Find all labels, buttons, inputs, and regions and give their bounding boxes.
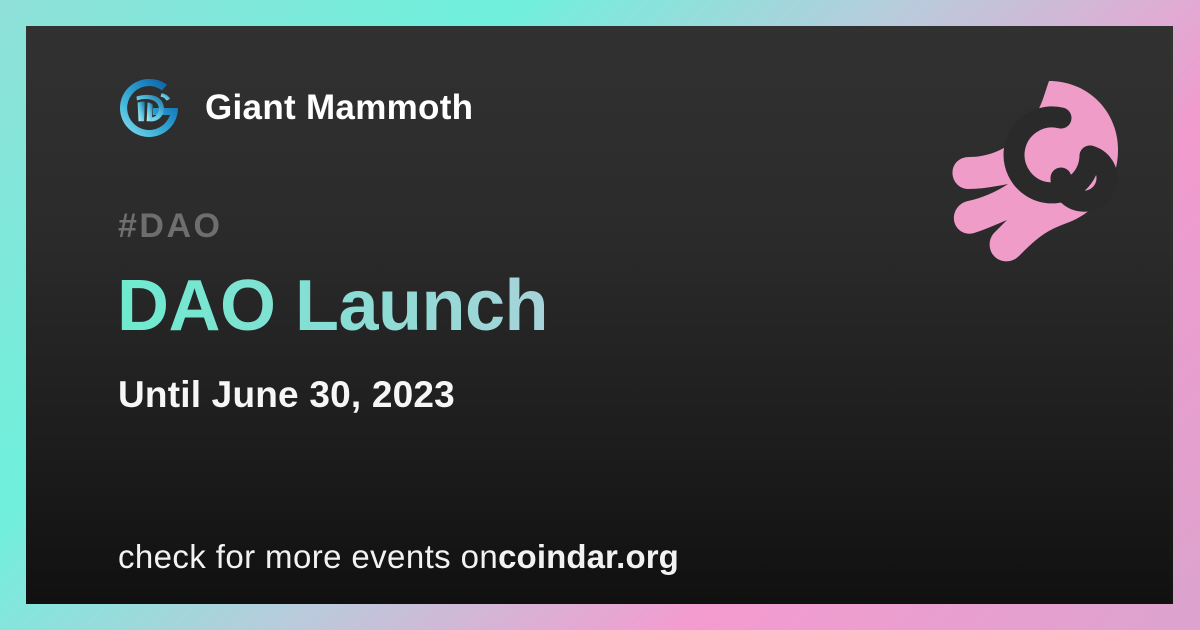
coindar-comet-icon	[949, 78, 1121, 264]
footer-site-link[interactable]: coindar.org	[498, 538, 679, 576]
brand-name: Giant Mammoth	[205, 88, 473, 128]
event-card: Giant Mammoth #DAO DAO Launch Until June…	[26, 26, 1173, 604]
event-date: Until June 30, 2023	[118, 374, 455, 416]
footer-prefix: check for more events on	[118, 538, 498, 576]
category-tag: #DAO	[118, 207, 222, 246]
event-title: DAO Launch	[117, 269, 548, 345]
footer-cta: check for more events on coindar.org	[118, 538, 679, 576]
brand-row: Giant Mammoth	[117, 76, 473, 140]
poster-frame: Giant Mammoth #DAO DAO Launch Until June…	[0, 0, 1200, 630]
giant-mammoth-logo-icon	[117, 76, 181, 140]
